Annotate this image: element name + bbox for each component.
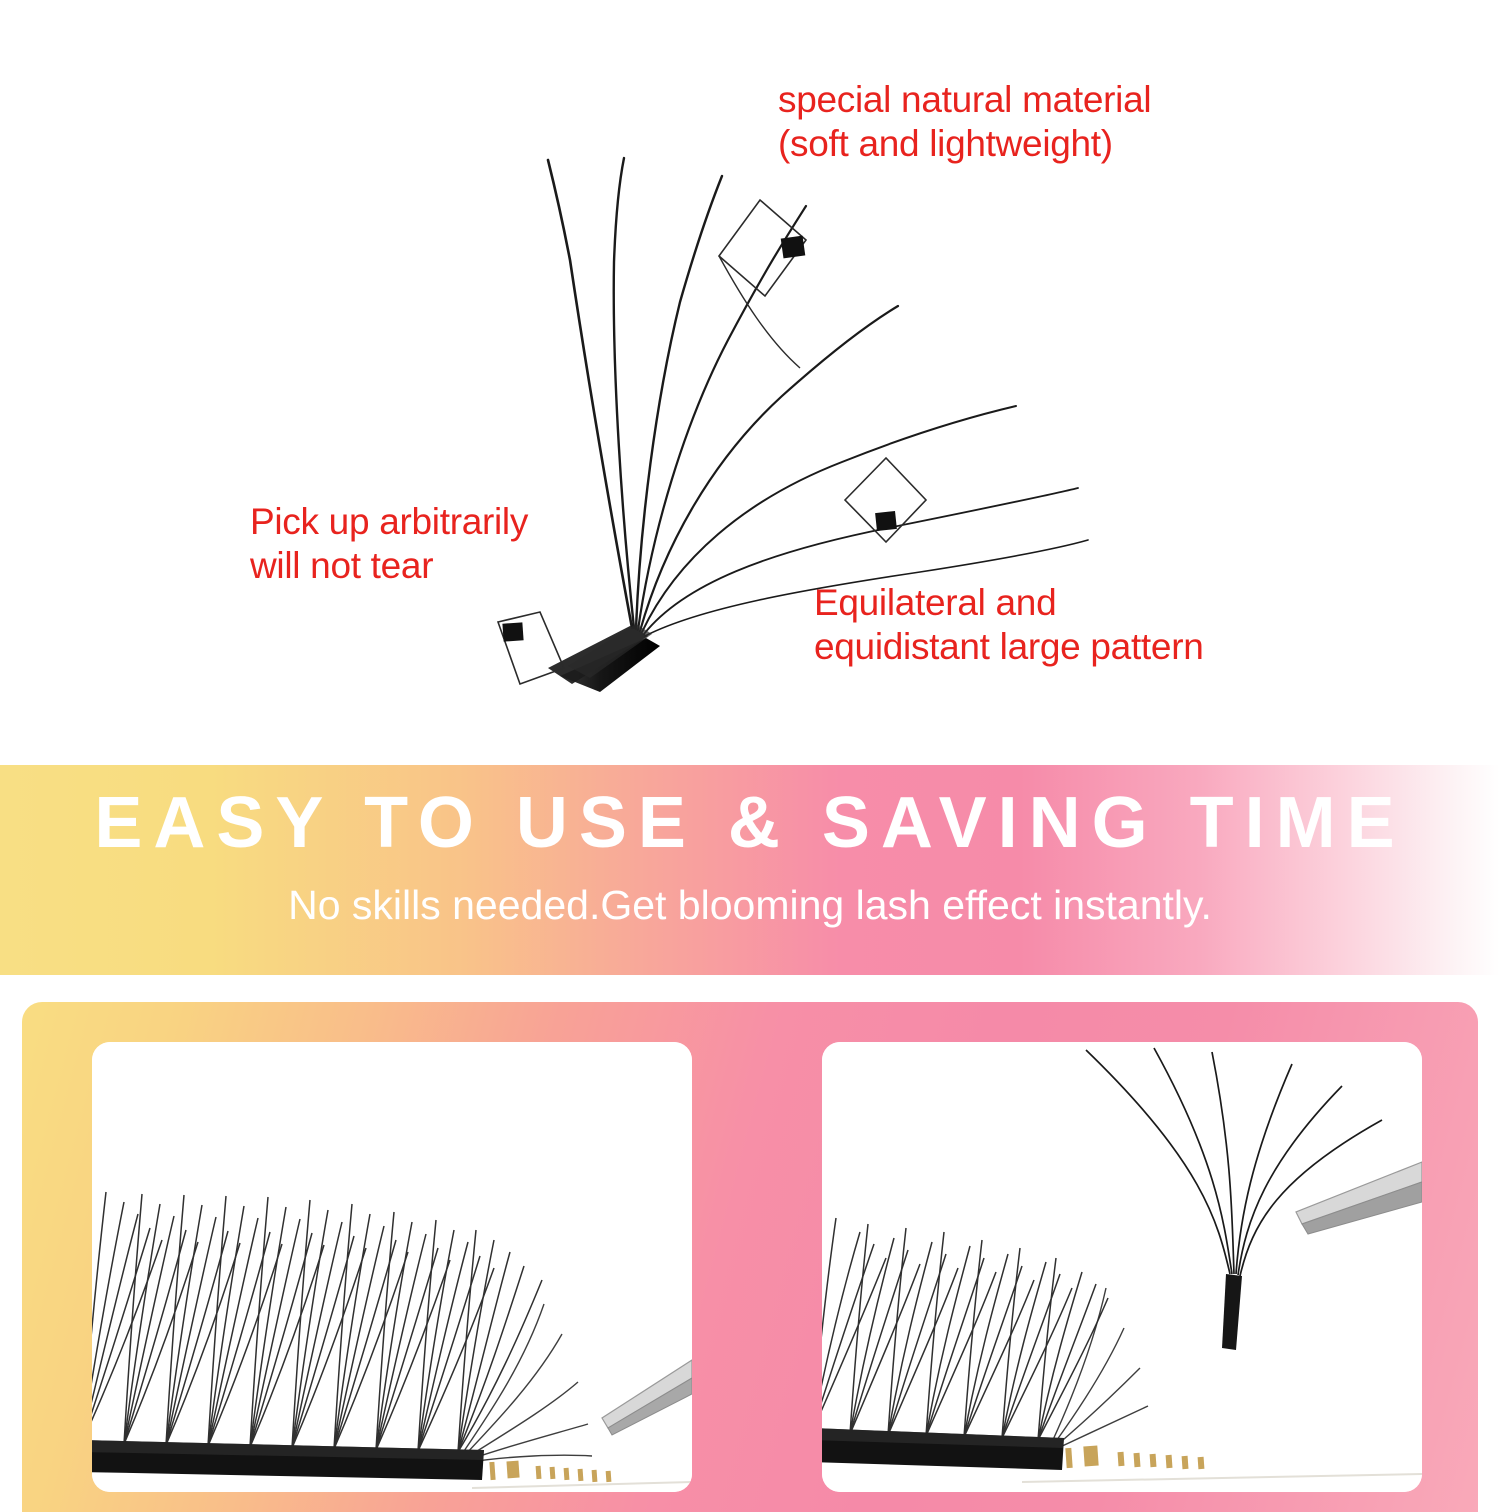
lash-tray-photo (92, 1042, 692, 1492)
lash-fan-base (548, 624, 660, 692)
photo-panel-lash-fan-pickup (822, 1042, 1422, 1492)
annotation-pick-up: Pick up arbitrarily will not tear (250, 500, 528, 587)
annotation-special-material: special natural material (soft and light… (778, 78, 1151, 165)
banner-subtitle: No skills needed.Get blooming lash effec… (0, 885, 1500, 926)
feature-banner: EASY TO USE & SAVING TIME No skills need… (0, 765, 1500, 975)
lash-strands (548, 158, 1088, 636)
banner-headline: EASY TO USE & SAVING TIME (0, 787, 1500, 859)
top-diagram-section: special natural material (soft and light… (0, 0, 1500, 765)
callout-marker-middle (845, 458, 926, 542)
lash-fan-pickup-photo (822, 1042, 1422, 1492)
lash-fan-diagram (0, 0, 1500, 765)
photo-panel-lash-tray (92, 1042, 692, 1492)
bottom-photo-frame (22, 1002, 1478, 1512)
annotation-equilateral: Equilateral and equidistant large patter… (814, 581, 1204, 668)
callout-marker-base (498, 612, 564, 684)
